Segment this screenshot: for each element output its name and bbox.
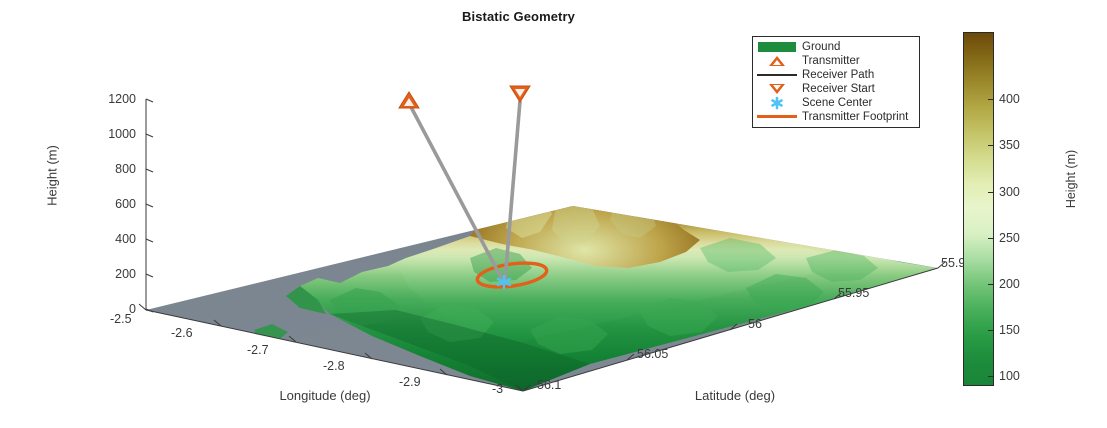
tick-longitude-minus2-5: -2.5 [110, 312, 132, 326]
tick-longitude-minus2-8: -2.8 [323, 359, 345, 373]
figure-canvas: Bistatic Geometry [0, 0, 1107, 428]
colorbar-tick-400: 400 [999, 92, 1020, 106]
tick-height-1200: 1200 [74, 92, 136, 106]
colorbar-tick-300: 300 [999, 185, 1020, 199]
asterisk-icon [756, 96, 798, 110]
legend-item-receiver-start[interactable]: Receiver Start [756, 82, 915, 96]
tick-height-200: 200 [74, 267, 136, 281]
axis-title-latitude: Latitude (deg) [625, 388, 845, 403]
axis-title-longitude: Longitude (deg) [215, 388, 435, 403]
tick-height-800: 800 [74, 162, 136, 176]
legend-label-ground: Ground [802, 41, 840, 54]
tick-height-1000: 1000 [74, 127, 136, 141]
thick-line-icon [756, 110, 798, 124]
transmitter-marker [399, 92, 419, 108]
tick-longitude-minus3: -3 [492, 382, 503, 396]
triangle-down-icon [756, 82, 798, 96]
colorbar-tick-150: 150 [999, 323, 1020, 337]
legend-label-transmitter-footprint: Transmitter Footprint [802, 111, 908, 124]
tick-latitude-55-9: 55.9 [941, 256, 963, 270]
line-icon [756, 68, 798, 82]
colorbar-tick-200: 200 [999, 277, 1020, 291]
legend-item-transmitter-footprint[interactable]: Transmitter Footprint [756, 110, 915, 124]
receiver-start-marker [510, 86, 530, 102]
legend-label-transmitter: Transmitter [802, 55, 860, 68]
tick-latitude-56-1: 56.1 [537, 378, 561, 392]
tick-longitude-minus2-7: -2.7 [247, 343, 269, 357]
ground-patch-icon [756, 40, 798, 54]
legend-label-scene-center: Scene Center [802, 97, 872, 110]
legend-item-transmitter[interactable]: Transmitter [756, 54, 915, 68]
legend-item-ground[interactable]: Ground [756, 40, 915, 54]
tick-latitude-56: 56 [748, 317, 762, 331]
tick-height-600: 600 [74, 197, 136, 211]
colorbar-ticks: 400 350 300 250 200 150 100 [963, 32, 1033, 386]
tick-height-400: 400 [74, 232, 136, 246]
colorbar-tick-250: 250 [999, 231, 1020, 245]
tick-latitude-56-05: 56.05 [637, 347, 668, 361]
colorbar-tick-100: 100 [999, 369, 1020, 383]
legend: Ground Transmitter Receiver Path [752, 36, 920, 128]
tick-longitude-minus2-9: -2.9 [399, 375, 421, 389]
legend-label-receiver-start: Receiver Start [802, 83, 875, 96]
legend-item-scene-center[interactable]: Scene Center [756, 96, 915, 110]
colorbar-tick-350: 350 [999, 138, 1020, 152]
colorbar-title: Height (m) [1064, 124, 1078, 234]
tick-longitude-minus2-6: -2.6 [171, 326, 193, 340]
legend-item-receiver-path[interactable]: Receiver Path [756, 68, 915, 82]
axes-3d [0, 0, 1107, 428]
axis-title-height: Height (m) [45, 106, 60, 246]
triangle-up-icon [756, 54, 798, 68]
legend-label-receiver-path: Receiver Path [802, 69, 874, 82]
tick-latitude-55-95: 55.95 [838, 286, 869, 300]
